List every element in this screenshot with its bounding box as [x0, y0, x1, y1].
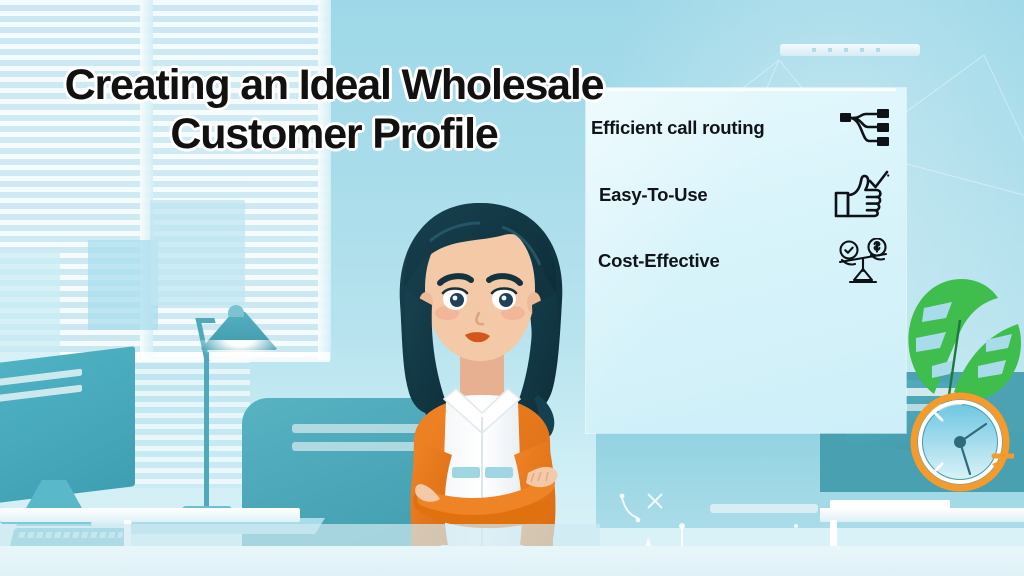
monstera-plant-icon — [894, 262, 1024, 402]
floor — [0, 546, 1024, 576]
wall-panel — [88, 240, 158, 330]
feature-item-easy-to-use: Easy-To-Use — [586, 171, 906, 219]
banner-image: Efficient call routing Easy-To-Use — [0, 0, 1024, 576]
feature-list: Efficient call routing Easy-To-Use — [586, 95, 906, 295]
desktop-monitor — [0, 346, 135, 504]
balance-scale-money-icon — [836, 238, 890, 284]
businesswoman-illustration — [352, 185, 612, 576]
whiteboard-top-edge — [596, 88, 896, 91]
monitor-screen-line — [0, 369, 82, 387]
wall-panel — [0, 250, 60, 370]
shirt-pocket-right — [485, 467, 513, 478]
call-routing-icon — [840, 108, 890, 148]
floor-shadow — [0, 524, 600, 548]
thumbs-up-check-icon — [834, 169, 890, 221]
feature-item-call-routing: Efficient call routing — [586, 104, 906, 152]
feature-label: Cost-Effective — [598, 250, 720, 272]
wall-clock-icon — [906, 388, 1014, 496]
feature-item-cost-effective: Cost-Effective — [586, 237, 906, 285]
whiteboard-rail-dots — [812, 48, 882, 52]
feature-label: Easy-To-Use — [599, 184, 708, 206]
desk-top — [0, 508, 300, 522]
page-title: Creating an Ideal Wholesale Customer Pro… — [34, 61, 634, 159]
shirt-pocket-left — [452, 467, 480, 478]
eye-right — [492, 288, 516, 310]
eye-left — [443, 288, 467, 310]
window-mullion — [318, 0, 331, 360]
desk-lamp-light — [196, 340, 284, 362]
monitor-screen-line — [0, 385, 82, 403]
wall-panel — [150, 200, 245, 305]
desk-lamp-knob — [228, 305, 244, 317]
desk-lamp-pole — [204, 352, 209, 512]
